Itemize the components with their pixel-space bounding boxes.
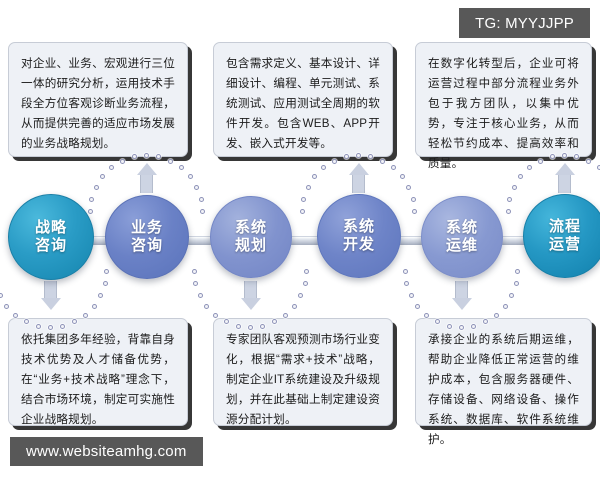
decorative-dot <box>179 165 184 170</box>
node-process-operations[interactable]: 流程 运营 <box>523 194 600 278</box>
decorative-dot <box>198 293 203 298</box>
decorative-dot <box>204 304 209 309</box>
decorative-dot <box>380 159 385 164</box>
decorative-dot <box>300 209 305 214</box>
decorative-dot <box>104 269 109 274</box>
stem-up-2 <box>352 175 365 193</box>
decorative-dot <box>515 269 520 274</box>
decorative-dot <box>518 174 523 179</box>
watermark-bottom-left: www.websiteamhg.com <box>10 437 203 466</box>
decorative-dot <box>503 304 508 309</box>
node-system-planning[interactable]: 系统 规划 <box>210 196 292 278</box>
bottom-info-box-2: 专家团队客观预测市场行业变化，根据“需求+技术”战略，制定企业IT系统建设及升级… <box>213 318 393 426</box>
decorative-dot <box>512 185 517 190</box>
decorative-dot <box>100 174 105 179</box>
decorative-dot <box>98 293 103 298</box>
arrow-down-to-bottom-box-3 <box>452 298 472 310</box>
node-business-consulting[interactable]: 业务 咨询 <box>105 195 189 279</box>
decorative-dot <box>89 197 94 202</box>
node-label-line1: 战略 <box>35 219 67 237</box>
node-label-line2: 开发 <box>343 236 375 254</box>
decorative-dot <box>411 197 416 202</box>
arrow-up-to-top-box-3 <box>555 163 575 175</box>
decorative-dot <box>538 159 543 164</box>
decorative-dot <box>199 197 204 202</box>
decorative-dot <box>507 197 512 202</box>
bottom-info-box-3: 承接企业的系统后期运维，帮助企业降低正常运营的维护成本，包含服务器硬件、存储设备… <box>415 318 592 426</box>
stem-down-1 <box>44 281 57 298</box>
decorative-dot <box>301 197 306 202</box>
node-system-operations[interactable]: 系统 运维 <box>421 196 503 278</box>
node-label-line1: 业务 <box>131 219 163 237</box>
decorative-dot <box>403 269 408 274</box>
decorative-dot <box>506 209 511 214</box>
watermark-top-right: TG: MYYJJPP <box>459 8 590 38</box>
decorative-dot <box>321 165 326 170</box>
stem-down-2 <box>244 281 257 298</box>
decorative-dot <box>92 304 97 309</box>
decorative-dot <box>193 281 198 286</box>
infographic-canvas: TG: MYYJJPP 对企业、业务、宏观进行三位一体的研究分析，运用技术手段全… <box>0 0 600 480</box>
arrow-down-to-bottom-box-1 <box>41 298 61 310</box>
decorative-dot <box>94 185 99 190</box>
decorative-dot <box>120 159 125 164</box>
stem-down-3 <box>455 281 468 298</box>
decorative-dot <box>412 209 417 214</box>
decorative-dot <box>200 209 205 214</box>
node-label-line2: 运营 <box>549 236 581 254</box>
arrow-up-to-top-box-1 <box>137 163 157 175</box>
decorative-dot <box>194 185 199 190</box>
decorative-dot <box>391 165 396 170</box>
node-label-line1: 系统 <box>235 219 267 237</box>
bottom-info-box-1: 依托集团多年经验，背靠自身技术优势及人才储备优势，在“业务+技术战略”理念下，结… <box>8 318 188 426</box>
top-info-box-2: 包含需求定义、基本设计、详细设计、编程、单元测试、系统测试、应用测试全周期的软件… <box>213 42 393 157</box>
decorative-dot <box>188 174 193 179</box>
decorative-dot <box>298 293 303 298</box>
decorative-dot <box>514 281 519 286</box>
node-label-line2: 咨询 <box>35 237 67 255</box>
node-system-development[interactable]: 系统 开发 <box>317 194 401 278</box>
decorative-dot <box>88 209 93 214</box>
decorative-dot <box>103 281 108 286</box>
decorative-dot <box>192 269 197 274</box>
stem-up-3 <box>558 175 571 193</box>
decorative-dot <box>213 313 218 318</box>
decorative-dot <box>4 304 9 309</box>
decorative-dot <box>404 281 409 286</box>
decorative-dot <box>292 304 297 309</box>
decorative-dot <box>304 269 309 274</box>
decorative-dot <box>586 159 591 164</box>
decorative-dot <box>0 293 3 298</box>
top-info-box-1: 对企业、业务、宏观进行三位一体的研究分析，运用技术手段全方位客观诊断业务流程，从… <box>8 42 188 157</box>
decorative-dot <box>303 281 308 286</box>
decorative-dot <box>168 159 173 164</box>
decorative-dot <box>306 185 311 190</box>
node-strategy-consulting[interactable]: 战略 咨询 <box>8 194 94 280</box>
decorative-dot <box>415 304 420 309</box>
decorative-dot <box>406 185 411 190</box>
arrow-up-to-top-box-2 <box>349 163 369 175</box>
decorative-dot <box>109 165 114 170</box>
decorative-dot <box>509 293 514 298</box>
node-label-line1: 系统 <box>343 218 375 236</box>
top-info-box-3: 在数字化转型后，企业可将运营过程中部分流程业务外包于我方团队，以集中优势，专注于… <box>415 42 592 157</box>
node-label-line1: 系统 <box>446 219 478 237</box>
decorative-dot <box>312 174 317 179</box>
arrow-down-to-bottom-box-2 <box>241 298 261 310</box>
node-label-line1: 流程 <box>549 218 581 236</box>
decorative-dot <box>400 174 405 179</box>
decorative-dot <box>527 165 532 170</box>
decorative-dot <box>332 159 337 164</box>
node-label-line2: 运维 <box>446 237 478 255</box>
stem-up-1 <box>140 175 153 193</box>
node-label-line2: 规划 <box>235 237 267 255</box>
decorative-dot <box>409 293 414 298</box>
node-label-line2: 咨询 <box>131 237 163 255</box>
